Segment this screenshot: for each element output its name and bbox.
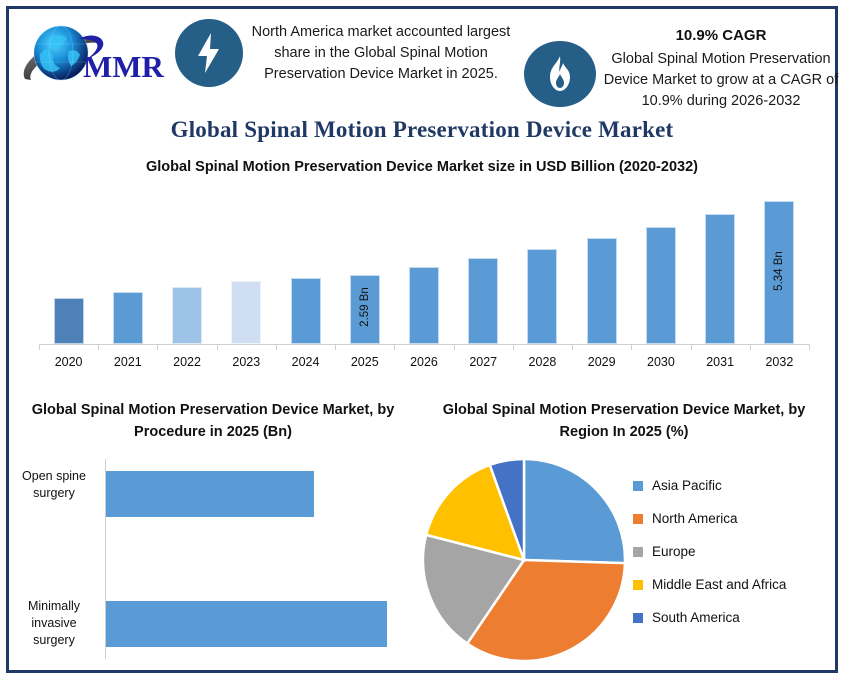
- procedure-chart-title: Global Spinal Motion Preservation Device…: [29, 399, 397, 443]
- pie-chart-graphic: [419, 455, 629, 665]
- legend-label: South America: [652, 610, 740, 625]
- bar-2028: [527, 249, 557, 344]
- procedure-label-0: Open spine surgery: [15, 468, 93, 502]
- legend-swatch-icon: [633, 547, 643, 557]
- legend-item-europe: Europe: [633, 535, 833, 568]
- procedure-bar-chart: Global Spinal Motion Preservation Device…: [11, 397, 411, 672]
- x-axis-label-2032: 2032: [750, 355, 809, 369]
- bar-2020: [54, 298, 84, 345]
- x-axis-label-2029: 2029: [572, 355, 631, 369]
- x-axis-label-2028: 2028: [513, 355, 572, 369]
- procedure-label-1: Minimally invasive surgery: [15, 598, 93, 649]
- x-axis-label-2021: 2021: [98, 355, 157, 369]
- svg-text:MMR: MMR: [83, 49, 165, 84]
- legend-item-middle-east-and-africa: Middle East and Africa: [633, 568, 833, 601]
- legend-label: Asia Pacific: [652, 478, 722, 493]
- bar-value-label-2032: 5.34 Bn: [773, 251, 785, 291]
- pie-slice-asia-pacific: [524, 459, 625, 563]
- header: MMR North America market accounted large…: [9, 9, 835, 109]
- bar-chart-ticks: [39, 344, 809, 350]
- mmr-logo: MMR: [17, 17, 172, 97]
- bar-2026: [409, 267, 439, 345]
- x-axis-label-2031: 2031: [691, 355, 750, 369]
- legend-item-asia-pacific: Asia Pacific: [633, 469, 833, 502]
- legend-item-south-america: South America: [633, 601, 833, 634]
- bar-2029: [587, 238, 617, 344]
- bar-2022: [172, 287, 202, 344]
- legend-swatch-icon: [633, 481, 643, 491]
- bar-2031: [705, 214, 735, 344]
- legend-swatch-icon: [633, 580, 643, 590]
- x-axis-label-2030: 2030: [631, 355, 690, 369]
- bar-2021: [113, 292, 143, 344]
- bar-2025: 2.59 Bn: [350, 275, 380, 344]
- procedure-bar-0: [106, 471, 314, 517]
- pie-chart-title: Global Spinal Motion Preservation Device…: [429, 399, 819, 443]
- page-title: Global Spinal Motion Preservation Device…: [9, 117, 835, 143]
- pie-chart-legend: Asia PacificNorth AmericaEuropeMiddle Ea…: [633, 469, 833, 634]
- x-axis-label-2020: 2020: [39, 355, 98, 369]
- bar-2030: [646, 227, 676, 344]
- bar-2023: [231, 281, 261, 344]
- bar-chart-x-labels: 2020202120222023202420252026202720282029…: [39, 355, 809, 373]
- bar-2027: [468, 258, 498, 344]
- lightning-bolt-badge: [175, 19, 243, 87]
- flame-badge: [524, 41, 596, 107]
- lightning-bolt-icon: [192, 31, 226, 75]
- globe-logo-icon: MMR: [17, 17, 172, 97]
- legend-label: Europe: [652, 544, 696, 559]
- legend-item-north-america: North America: [633, 502, 833, 535]
- header-left-text: North America market accounted largest s…: [245, 22, 517, 85]
- x-axis-label-2026: 2026: [394, 355, 453, 369]
- procedure-chart-plot: Open spine surgeryMinimally invasive sur…: [11, 459, 411, 667]
- legend-label: North America: [652, 511, 738, 526]
- x-axis-label-2023: 2023: [217, 355, 276, 369]
- bar-chart-title: Global Spinal Motion Preservation Device…: [9, 159, 835, 175]
- x-axis-label-2025: 2025: [335, 355, 394, 369]
- market-size-bar-chart: Global Spinal Motion Preservation Device…: [9, 159, 835, 374]
- legend-label: Middle East and Africa: [652, 577, 786, 592]
- bar-2032: 5.34 Bn: [764, 201, 794, 344]
- bar-value-label-2025: 2.59 Bn: [359, 288, 371, 328]
- x-axis-label-2022: 2022: [157, 355, 216, 369]
- bar-chart-plot: 2.59 Bn5.34 Bn: [39, 189, 809, 344]
- header-right-text: Global Spinal Motion Preservation Device…: [601, 49, 841, 112]
- infographic-frame: MMR North America market accounted large…: [6, 6, 838, 673]
- bar-2024: [291, 278, 321, 344]
- legend-swatch-icon: [633, 613, 643, 623]
- x-axis-label-2027: 2027: [454, 355, 513, 369]
- cagr-headline: 10.9% CAGR: [601, 27, 841, 44]
- flame-icon: [545, 54, 575, 94]
- procedure-bar-1: [106, 601, 387, 647]
- x-axis-label-2024: 2024: [276, 355, 335, 369]
- region-pie-chart: Global Spinal Motion Preservation Device…: [411, 397, 835, 672]
- legend-swatch-icon: [633, 514, 643, 524]
